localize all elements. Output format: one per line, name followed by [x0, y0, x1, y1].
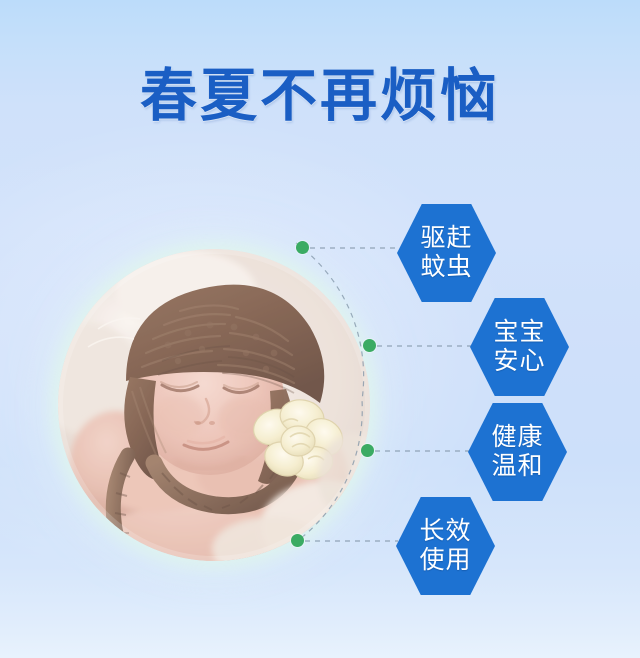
feature-hex-2-line2: 安心 — [493, 347, 545, 377]
connector-dot-1 — [296, 241, 309, 254]
baby-photo-circle — [58, 249, 370, 561]
feature-hex-3-line1: 健康 — [491, 423, 543, 453]
feature-hex-healthy-mild[interactable]: 健康 温和 — [468, 402, 567, 502]
baby-photo — [58, 249, 370, 561]
feature-hex-2-line1: 宝宝 — [493, 318, 545, 348]
feature-hex-3-line2: 温和 — [491, 452, 543, 482]
feature-hex-repel-mosquitoes[interactable]: 驱赶 蚊虫 — [397, 203, 496, 303]
feature-hex-1-line1: 驱赶 — [420, 224, 472, 254]
page-title: 春夏不再烦恼 — [0, 66, 640, 126]
feature-hex-baby-safe[interactable]: 宝宝 安心 — [470, 297, 569, 397]
connector-dot-3 — [361, 444, 374, 457]
connector-dot-4 — [291, 534, 304, 547]
feature-hex-4-line1: 长效 — [419, 517, 471, 547]
feature-hex-4-line2: 使用 — [419, 546, 471, 576]
feature-hex-long-lasting[interactable]: 长效 使用 — [396, 496, 495, 596]
connector-dot-2 — [363, 339, 376, 352]
promo-poster: 春夏不再烦恼 — [0, 0, 640, 658]
feature-hex-1-line2: 蚊虫 — [420, 253, 472, 283]
